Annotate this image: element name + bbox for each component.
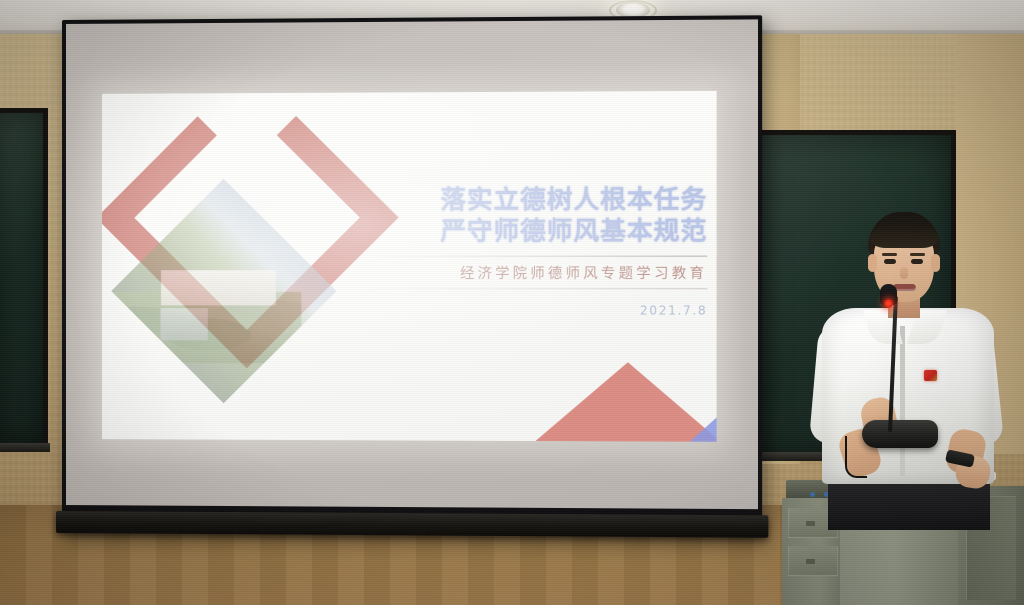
slide-date: 2021.7.8 [359, 303, 707, 317]
slide-title-line-1: 落实立德树人根本任务 [359, 184, 707, 216]
podium-drawer-bottom-handle [806, 559, 815, 564]
party-emblem-badge [924, 370, 937, 381]
projection-screen: 落实立德树人根本任务 严守师德师风基本规范 经济学院师德师风专题学习教育 202… [62, 15, 762, 537]
presentation-slide: 落实立德树人根本任务 严守师德师风基本规范 经济学院师德师风专题学习教育 202… [102, 91, 717, 442]
eyebrow-right [910, 253, 925, 256]
nose [900, 267, 908, 279]
podium-drawer-top-handle [806, 521, 815, 526]
hair-fringe [870, 223, 938, 248]
slide-title-line-2: 严守师德师风基本规范 [359, 215, 707, 246]
slide-divider-bottom [359, 288, 707, 289]
screen-surface: 落实立德树人根本任务 严守师德师风基本规范 经济学院师德师风专题学习教育 202… [66, 19, 758, 509]
eyebrow-left [882, 253, 897, 256]
shirt-placket [900, 326, 905, 476]
blue-triangle-graphic [690, 397, 717, 442]
photo-plaza [160, 308, 208, 340]
eye-right [911, 259, 923, 264]
photo-building [161, 270, 276, 305]
mic-base-unit[interactable] [862, 420, 938, 448]
ear-right [931, 254, 940, 272]
mic-cable [845, 436, 867, 478]
presenter [806, 212, 1006, 512]
slide-subtitle: 经济学院师德师风专题学习教育 [359, 263, 707, 283]
blackboard-left [0, 108, 48, 448]
eye-left [884, 259, 896, 264]
slide-text-block: 落实立德树人根本任务 严守师德师风基本规范 经济学院师德师风专题学习教育 202… [359, 184, 707, 317]
slide-divider-top [359, 256, 707, 257]
blackboard-left-tray [0, 443, 50, 452]
blackboard-left-sheen [0, 113, 43, 443]
ear-left [868, 254, 877, 272]
mic-active-led [884, 299, 893, 308]
lecture-hall-scene: 落实立德树人根本任务 严守师德师风基本规范 经济学院师德师风专题学习教育 202… [0, 0, 1024, 605]
